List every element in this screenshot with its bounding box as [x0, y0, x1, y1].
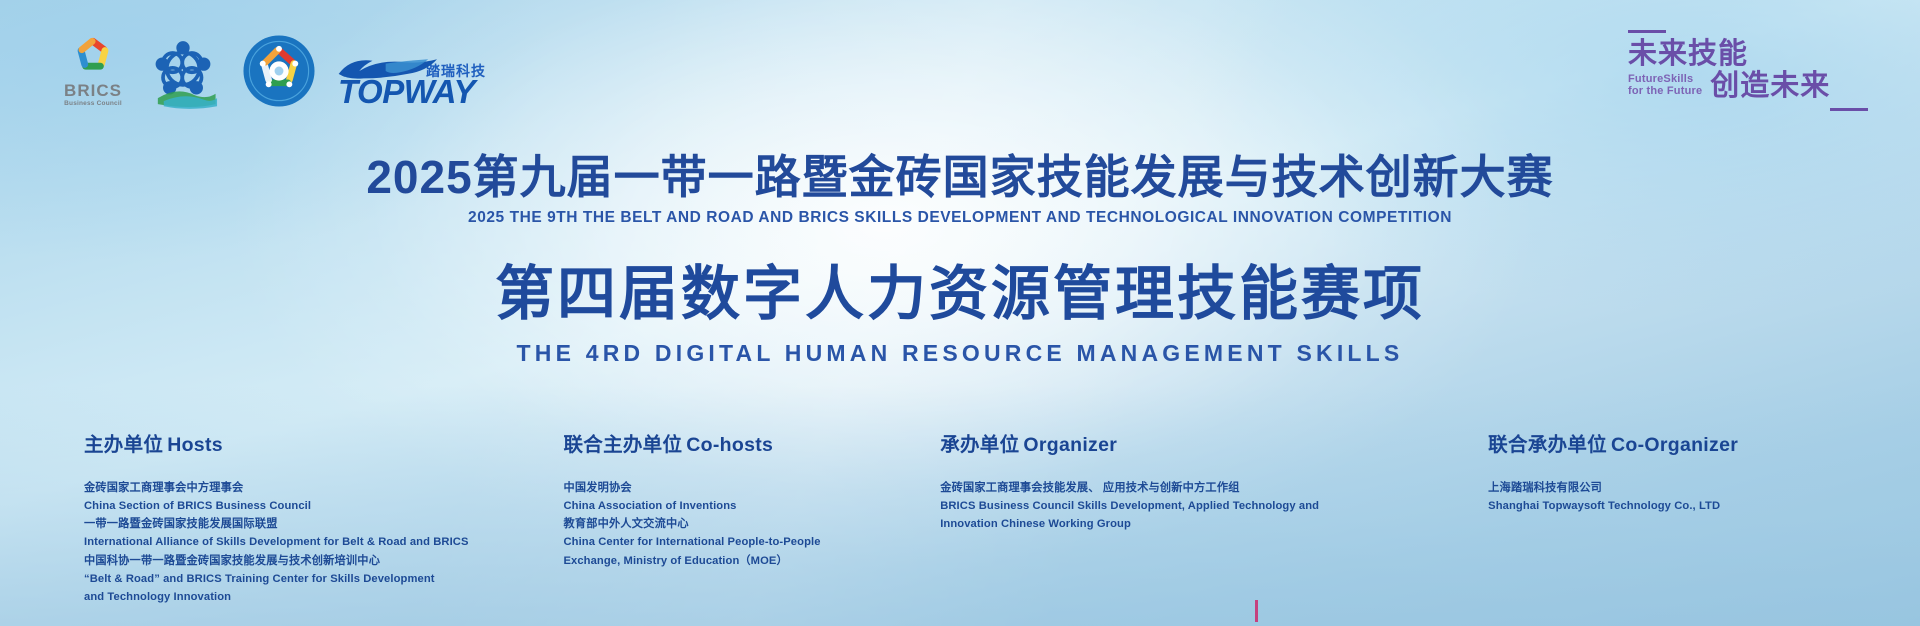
organizer-entry: 教育部中外人文交流中心 — [563, 515, 940, 533]
competition-title-en: 2025 THE 9TH THE BELT AND ROAD AND BRICS… — [0, 209, 1920, 227]
organizer-entry: Shanghai Topwaysoft Technology Co., LTD — [1488, 497, 1860, 515]
slogan-en-line2: for the Future — [1628, 85, 1702, 98]
brics-skills-emblem-logo — [242, 34, 316, 108]
topway-logo: 踏瑞科技 TOPWAY — [338, 51, 488, 108]
slogan-en: FutureSkills for the Future — [1628, 73, 1702, 102]
event-title-en: THE 4RD DIGITAL HUMAN RESOURCE MANAGEMEN… — [0, 340, 1920, 367]
organizer-heading-en: Organizer — [1023, 434, 1117, 456]
organizer-entry: “Belt & Road” and BRICS Training Center … — [84, 570, 563, 588]
bottom-cursor-mark — [1255, 600, 1258, 622]
organizer-heading-cn: 联合承办单位 — [1488, 434, 1607, 456]
organizer-heading: 主办单位Hosts — [84, 428, 563, 457]
slogan-cn-line1: 未来技能 — [1628, 39, 1868, 69]
organizer-heading-cn: 主办单位 — [84, 434, 163, 456]
organizer-heading-en: Co-Organizer — [1611, 434, 1738, 456]
event-title-cn: 第四届数字人力资源管理技能赛项 — [0, 261, 1920, 329]
organizers-section: 主办单位Hosts 金砖国家工商理事会中方理事会 China Section o… — [0, 428, 1920, 606]
organizer-column-cohosts: 联合主办单位Co-hosts 中国发明协会 China Association … — [563, 428, 940, 606]
slogan-bottom-rule — [1830, 108, 1868, 111]
skills-alliance-logo — [146, 36, 220, 108]
organizer-heading-cn: 承办单位 — [940, 434, 1019, 456]
brics-logo-title: BRICS — [62, 82, 124, 99]
organizer-column-organizer: 承办单位Organizer 金砖国家工商理事会技能发展、 应用技术与创新中方工作… — [940, 428, 1488, 606]
organizer-heading-en: Co-hosts — [686, 434, 773, 456]
organizer-heading-en: Hosts — [167, 434, 223, 456]
partner-logo-row: BRICS Business Council — [62, 34, 488, 108]
brics-logo-subtitle: Business Council — [62, 100, 124, 108]
organizer-entry: and Technology Innovation — [84, 588, 563, 606]
organizer-entry: Innovation Chinese Working Group — [940, 515, 1488, 533]
brics-star-icon — [70, 34, 116, 80]
organizer-entry: Exchange, Ministry of Education（MOE） — [563, 552, 940, 570]
organizer-entries: 金砖国家工商理事会技能发展、 应用技术与创新中方工作组 BRICS Busine… — [940, 479, 1488, 533]
organizer-entry: China Association of Inventions — [563, 497, 940, 515]
organizer-entries: 中国发明协会 China Association of Inventions 教… — [563, 479, 940, 570]
organizer-heading-cn: 联合主办单位 — [563, 434, 682, 456]
organizer-entry: 上海踏瑞科技有限公司 — [1488, 479, 1860, 497]
organizer-entry: China Section of BRICS Business Council — [84, 497, 563, 515]
organizer-entries: 上海踏瑞科技有限公司 Shanghai Topwaysoft Technolog… — [1488, 479, 1860, 515]
slogan-top-rule — [1628, 30, 1666, 33]
organizer-entry: 金砖国家工商理事会技能发展、 应用技术与创新中方工作组 — [940, 479, 1488, 497]
organizer-entry: 中国发明协会 — [563, 479, 940, 497]
organizer-entry: 中国科协一带一路暨金砖国家技能发展与技术创新培训中心 — [84, 552, 563, 570]
organizer-column-hosts: 主办单位Hosts 金砖国家工商理事会中方理事会 China Section o… — [84, 428, 563, 606]
organizer-entries: 金砖国家工商理事会中方理事会 China Section of BRICS Bu… — [84, 479, 563, 606]
organizer-heading: 联合承办单位Co-Organizer — [1488, 428, 1860, 457]
competition-title-cn: 2025第九届一带一路暨金砖国家技能发展与技术创新大赛 — [0, 152, 1920, 203]
future-skills-slogan: 未来技能 FutureSkills for the Future 创造未来 — [1628, 30, 1868, 111]
organizer-column-coorganizer: 联合承办单位Co-Organizer 上海踏瑞科技有限公司 Shanghai T… — [1488, 428, 1860, 606]
event-banner: BRICS Business Council — [0, 0, 1920, 626]
organizer-entry: 一带一路暨金砖国家技能发展国际联盟 — [84, 515, 563, 533]
slogan-en-line1: FutureSkills — [1628, 73, 1702, 86]
organizer-entry: International Alliance of Skills Develop… — [84, 533, 563, 551]
title-block: 2025第九届一带一路暨金砖国家技能发展与技术创新大赛 2025 THE 9TH… — [0, 152, 1920, 367]
organizer-entry: 金砖国家工商理事会中方理事会 — [84, 479, 563, 497]
organizer-heading: 联合主办单位Co-hosts — [563, 428, 940, 457]
slogan-cn-line2: 创造未来 — [1710, 71, 1830, 101]
organizer-entry: China Center for International People-to… — [563, 533, 940, 551]
organizer-heading: 承办单位Organizer — [940, 428, 1488, 457]
organizer-entry: BRICS Business Council Skills Developmen… — [940, 497, 1488, 515]
brics-business-council-logo: BRICS Business Council — [62, 34, 124, 108]
